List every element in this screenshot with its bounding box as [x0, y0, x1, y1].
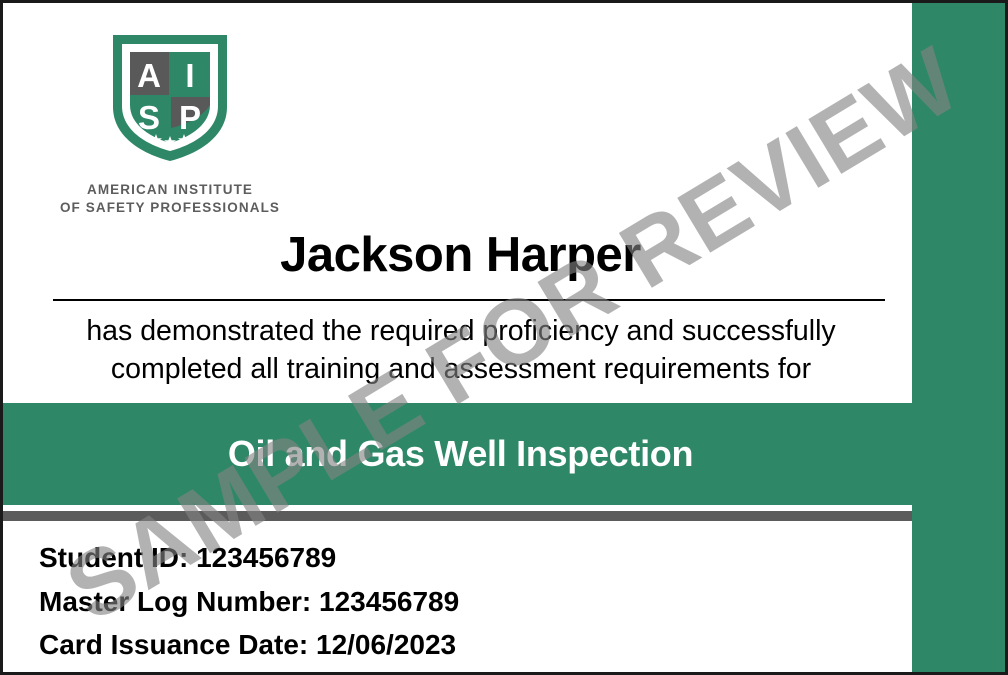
course-title: Oil and Gas Well Inspection: [228, 433, 693, 475]
certificate-details-list: Student ID: 123456789 Master Log Number:…: [39, 536, 899, 667]
organization-logo-block: A I S P AMERICAN INSTITUTE OF SAFETY PRO…: [55, 29, 285, 217]
organization-name: AMERICAN INSTITUTE OF SAFETY PROFESSIONA…: [55, 181, 285, 217]
right-green-stripe: [912, 3, 1005, 672]
separator-bar: [3, 511, 918, 521]
detail-row-master-log-number: Master Log Number: 123456789: [39, 580, 899, 624]
course-title-band: Oil and Gas Well Inspection: [3, 403, 918, 505]
recipient-name: Jackson Harper: [3, 231, 918, 280]
certificate-statement: has demonstrated the required proficienc…: [17, 313, 905, 389]
certificate-card: A I S P AMERICAN INSTITUTE OF SAFETY PRO…: [0, 0, 1008, 675]
name-divider-rule: [53, 299, 885, 301]
svg-text:A: A: [137, 57, 161, 94]
detail-row-student-id: Student ID: 123456789: [39, 536, 899, 580]
certificate-content: A I S P AMERICAN INSTITUTE OF SAFETY PRO…: [3, 3, 918, 672]
svg-text:P: P: [179, 99, 201, 136]
svg-text:I: I: [185, 57, 194, 94]
detail-row-card-issuance-date: Card Issuance Date: 12/06/2023: [39, 623, 899, 667]
aisp-shield-icon: A I S P: [55, 29, 285, 170]
svg-text:S: S: [138, 99, 160, 136]
